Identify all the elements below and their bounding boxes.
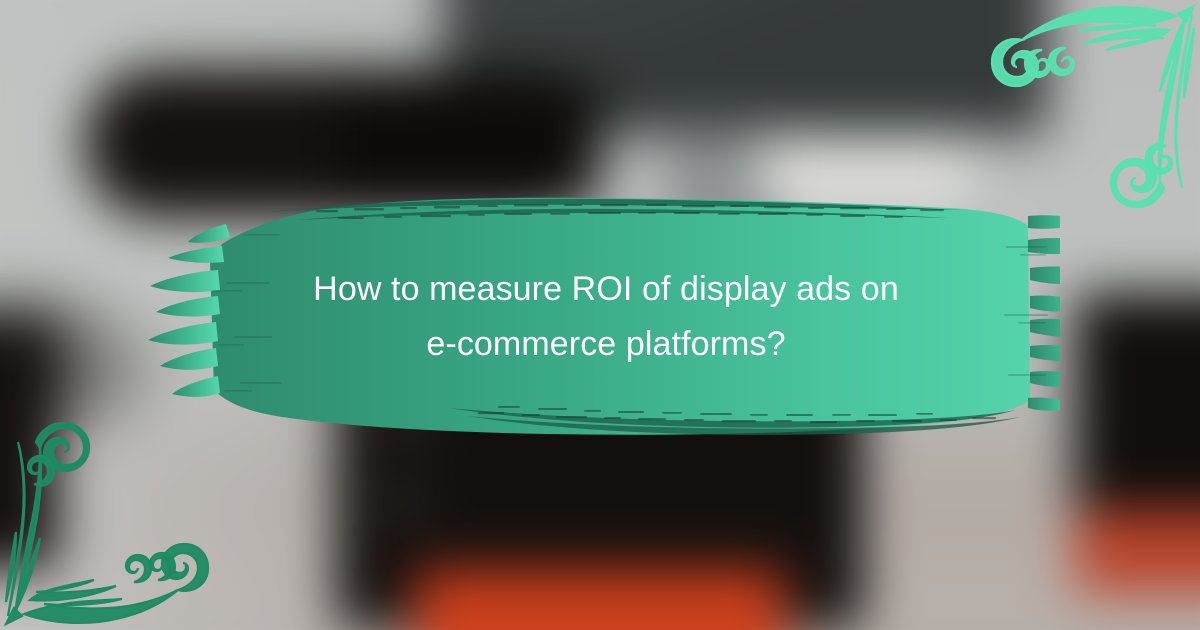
page-title-line-2: e-commerce platforms? [426,317,785,372]
page-title-line-1: How to measure ROI of display ads on [313,262,899,317]
title-card: How to measure ROI of display ads on e-c… [0,0,1200,630]
page-title: How to measure ROI of display ads on e-c… [196,232,1016,402]
